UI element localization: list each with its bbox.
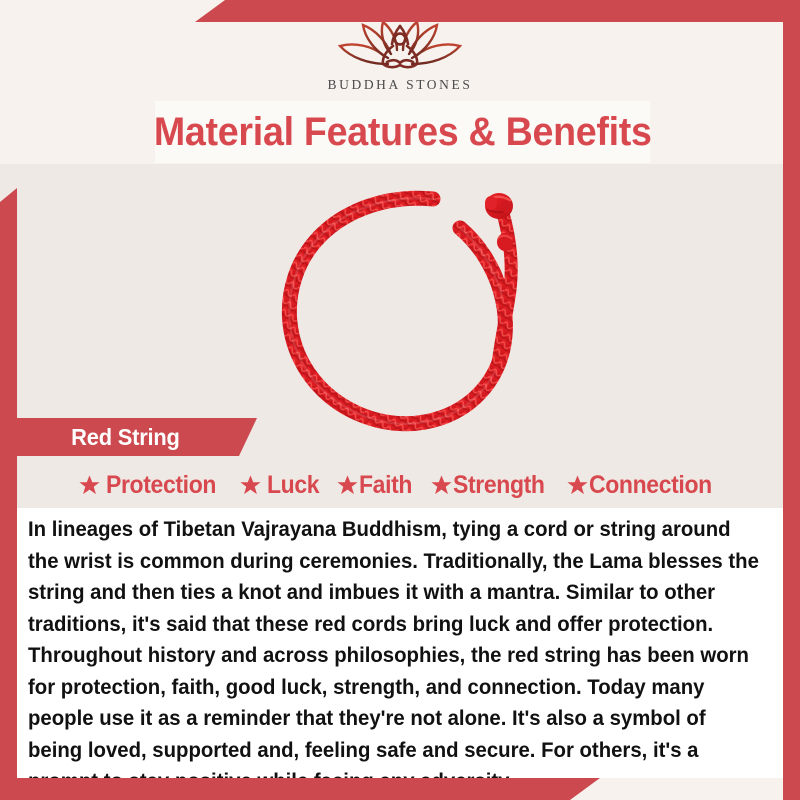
feature-label: Faith [359,471,412,500]
feature-label: Connection [589,471,712,500]
frame-border-left [0,188,17,800]
material-name-label: Red String [17,424,180,451]
star-icon [336,474,359,496]
lotus-meditation-figure-icon [325,18,475,76]
feature-item-strength: Strength [430,471,553,500]
brand-logo: BUDDHA STONES [0,18,800,100]
page-title: Material Features & Benefits [155,101,650,163]
feature-item-connection: Connection [566,471,723,500]
page-title-text: Material Features & Benefits [154,110,652,155]
feature-item-luck: Luck [239,471,324,500]
star-icon [430,474,453,496]
star-icon [239,474,262,496]
frame-border-right [783,0,800,800]
brand-name: BUDDHA STONES [328,77,473,93]
star-icon [566,474,589,496]
feature-label: Protection [106,471,216,500]
feature-item-faith: Faith [336,471,417,500]
description-panel: In lineages of Tibetan Vajrayana Buddhis… [17,508,783,778]
feature-list: Protection Luck Faith Strength Connectio… [17,466,783,504]
feature-label: Luck [267,471,319,500]
feature-item-protection: Protection [78,471,226,500]
description-text: In lineages of Tibetan Vajrayana Buddhis… [28,514,764,798]
material-name-ribbon: Red String [17,418,257,456]
feature-label: Strength [453,471,545,500]
red-braided-string-bracelet-image [255,176,565,441]
star-icon [78,474,101,496]
